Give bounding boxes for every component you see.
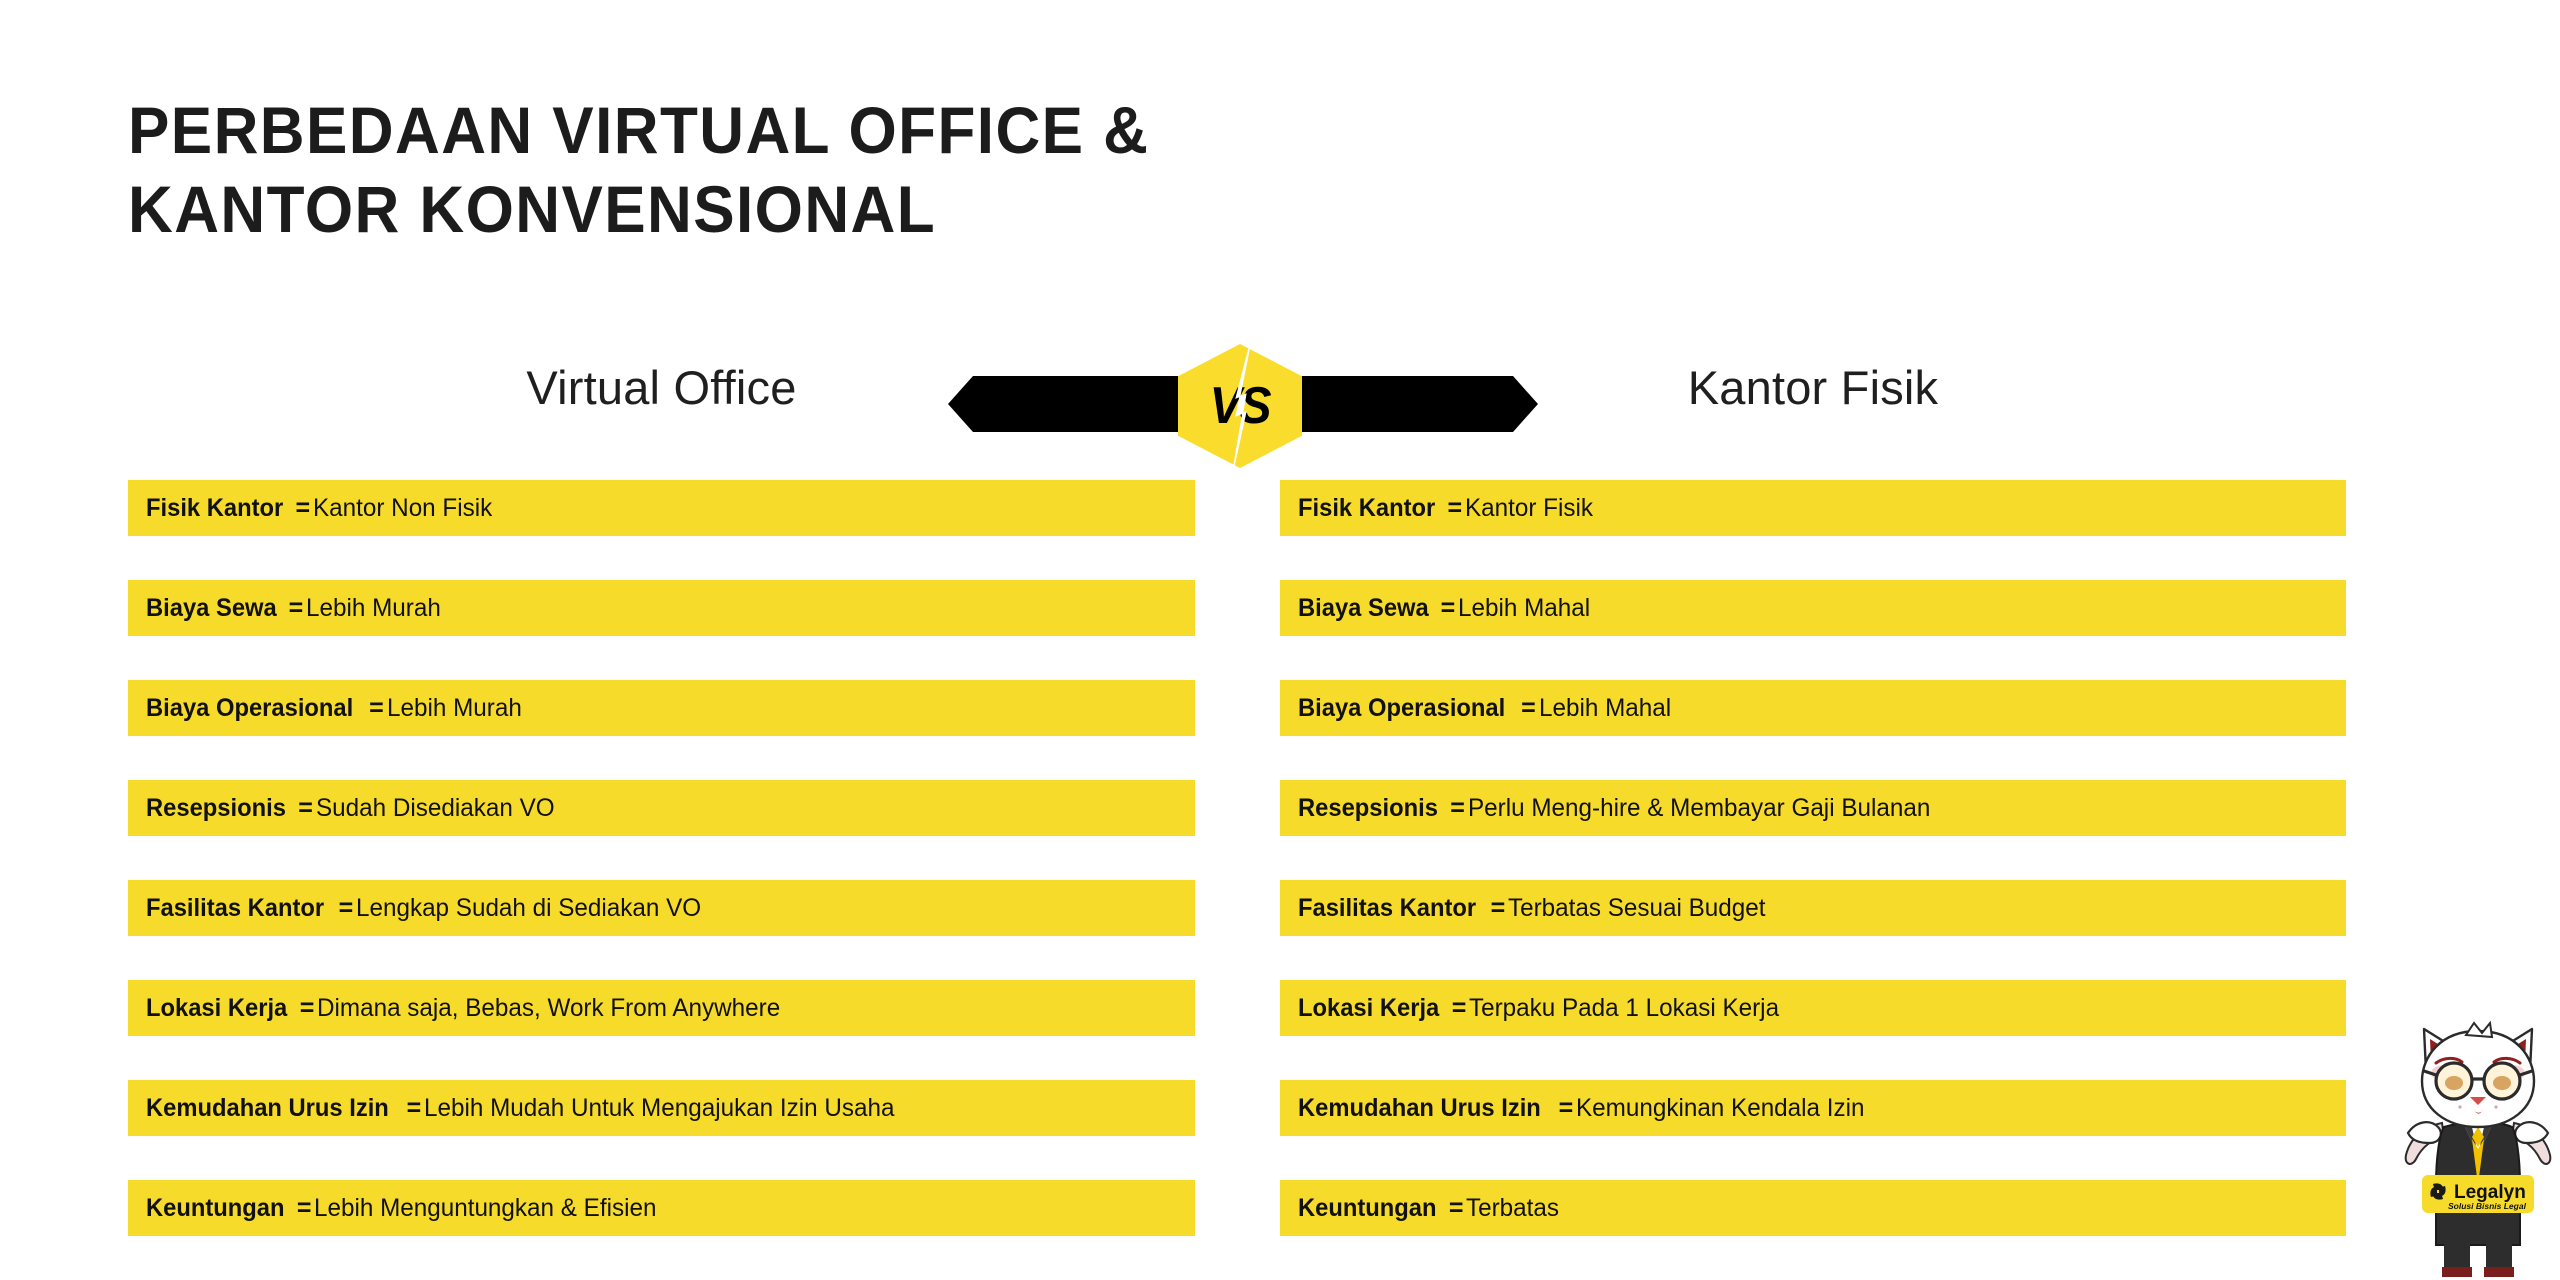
comparison-row: Keuntungan = Lebih Menguntungkan & Efisi… bbox=[128, 1180, 1195, 1236]
row-value: Perlu Meng-hire & Membayar Gaji Bulanan bbox=[1468, 794, 1930, 823]
page-title-line-2: KANTOR KONVENSIONAL bbox=[128, 175, 1538, 244]
row-label: Fisik Kantor bbox=[146, 494, 283, 523]
row-equals: = bbox=[1554, 1094, 1577, 1123]
row-equals: = bbox=[1436, 594, 1459, 623]
row-equals: = bbox=[402, 1094, 425, 1123]
row-label: Fasilitas Kantor bbox=[1298, 894, 1476, 923]
cat-mascot-illustration: Legalyn Solusi Bisnis Legal bbox=[2404, 1015, 2552, 1280]
comparison-row: Resepsionis = Sudah Disediakan VO bbox=[128, 780, 1195, 836]
row-value: Terbatas Sesuai Budget bbox=[1508, 894, 1766, 923]
row-equals: = bbox=[1516, 694, 1539, 723]
comparison-row: Fasilitas Kantor = Terbatas Sesuai Budge… bbox=[1280, 880, 2346, 936]
mascot-legs bbox=[2442, 1243, 2514, 1277]
row-label: Keuntungan bbox=[146, 1194, 285, 1223]
row-label: Biaya Operasional bbox=[146, 694, 353, 723]
row-value: Kantor Fisik bbox=[1465, 494, 1593, 523]
comparison-column-right: Fisik Kantor = Kantor Fisik Biaya Sewa =… bbox=[1280, 480, 2346, 1236]
comparison-row: Kemudahan Urus Izin = Kemungkinan Kendal… bbox=[1280, 1080, 2346, 1136]
row-equals: = bbox=[1445, 794, 1468, 823]
row-equals: = bbox=[292, 1194, 315, 1223]
row-label: Biaya Sewa bbox=[146, 594, 277, 623]
row-equals: = bbox=[290, 494, 313, 523]
brand-name: Legalyn bbox=[2454, 1182, 2526, 1203]
row-equals: = bbox=[1486, 894, 1509, 923]
comparison-row: Biaya Sewa = Lebih Murah bbox=[128, 580, 1195, 636]
row-value: Kantor Non Fisik bbox=[313, 494, 492, 523]
comparison-column-left: Fisik Kantor = Kantor Non Fisik Biaya Se… bbox=[128, 480, 1195, 1236]
row-label: Kemudahan Urus Izin bbox=[1298, 1094, 1541, 1123]
comparison-row: Fisik Kantor = Kantor Fisik bbox=[1280, 480, 2346, 536]
page-title: PERBEDAAN VIRTUAL OFFICE & KANTOR KONVEN… bbox=[128, 96, 1628, 255]
row-value: Lebih Mudah Untuk Mengajukan Izin Usaha bbox=[424, 1094, 894, 1123]
row-label: Lokasi Kerja bbox=[1298, 994, 1439, 1023]
brand-tagline: Solusi Bisnis Legal bbox=[2448, 1201, 2527, 1211]
row-label: Fisik Kantor bbox=[1298, 494, 1435, 523]
row-equals: = bbox=[293, 794, 316, 823]
row-label: Fasilitas Kantor bbox=[146, 894, 324, 923]
comparison-row: Biaya Operasional = Lebih Mahal bbox=[1280, 680, 2346, 736]
row-label: Resepsionis bbox=[146, 794, 286, 823]
brand-badge: Legalyn Solusi Bisnis Legal bbox=[2422, 1175, 2534, 1213]
row-value: Kemungkinan Kendala Izin bbox=[1576, 1094, 1865, 1123]
row-equals: = bbox=[1444, 1194, 1467, 1223]
comparison-row: Biaya Sewa = Lebih Mahal bbox=[1280, 580, 2346, 636]
mascot-head bbox=[2422, 1023, 2534, 1127]
brand-mascot: Legalyn Solusi Bisnis Legal bbox=[2404, 1015, 2552, 1280]
comparison-row: Resepsionis = Perlu Meng-hire & Membayar… bbox=[1280, 780, 2346, 836]
row-label: Biaya Operasional bbox=[1298, 694, 1505, 723]
row-label: Resepsionis bbox=[1298, 794, 1438, 823]
row-value: Lebih Menguntungkan & Efisien bbox=[314, 1194, 656, 1223]
row-value: Lebih Murah bbox=[387, 694, 522, 723]
row-equals: = bbox=[334, 894, 357, 923]
row-value: Lebih Mahal bbox=[1539, 694, 1671, 723]
row-label: Kemudahan Urus Izin bbox=[146, 1094, 389, 1123]
comparison-row: Lokasi Kerja = Terpaku Pada 1 Lokasi Ker… bbox=[1280, 980, 2346, 1036]
row-label: Keuntungan bbox=[1298, 1194, 1437, 1223]
row-value: Lengkap Sudah di Sediakan VO bbox=[356, 894, 701, 923]
row-value: Lebih Mahal bbox=[1458, 594, 1590, 623]
row-value: Terbatas bbox=[1466, 1194, 1559, 1223]
comparison-row: Fisik Kantor = Kantor Non Fisik bbox=[128, 480, 1195, 536]
row-equals: = bbox=[1447, 994, 1470, 1023]
row-equals: = bbox=[284, 594, 307, 623]
row-value: Sudah Disediakan VO bbox=[316, 794, 555, 823]
row-value: Lebih Murah bbox=[306, 594, 441, 623]
row-equals: = bbox=[1442, 494, 1465, 523]
row-equals: = bbox=[295, 994, 318, 1023]
comparison-row: Kemudahan Urus Izin = Lebih Mudah Untuk … bbox=[128, 1080, 1195, 1136]
comparison-row: Fasilitas Kantor = Lengkap Sudah di Sedi… bbox=[128, 880, 1195, 936]
row-value: Terpaku Pada 1 Lokasi Kerja bbox=[1469, 994, 1779, 1023]
row-equals: = bbox=[364, 694, 387, 723]
row-label: Lokasi Kerja bbox=[146, 994, 287, 1023]
comparison-row: Lokasi Kerja = Dimana saja, Bebas, Work … bbox=[128, 980, 1195, 1036]
vs-badge-label: VS bbox=[1210, 380, 1270, 432]
page-title-line-1: PERBEDAAN VIRTUAL OFFICE & bbox=[128, 96, 1538, 165]
row-value: Dimana saja, Bebas, Work From Anywhere bbox=[317, 994, 780, 1023]
row-label: Biaya Sewa bbox=[1298, 594, 1429, 623]
comparison-row: Biaya Operasional = Lebih Murah bbox=[128, 680, 1195, 736]
comparison-row: Keuntungan = Terbatas bbox=[1280, 1180, 2346, 1236]
